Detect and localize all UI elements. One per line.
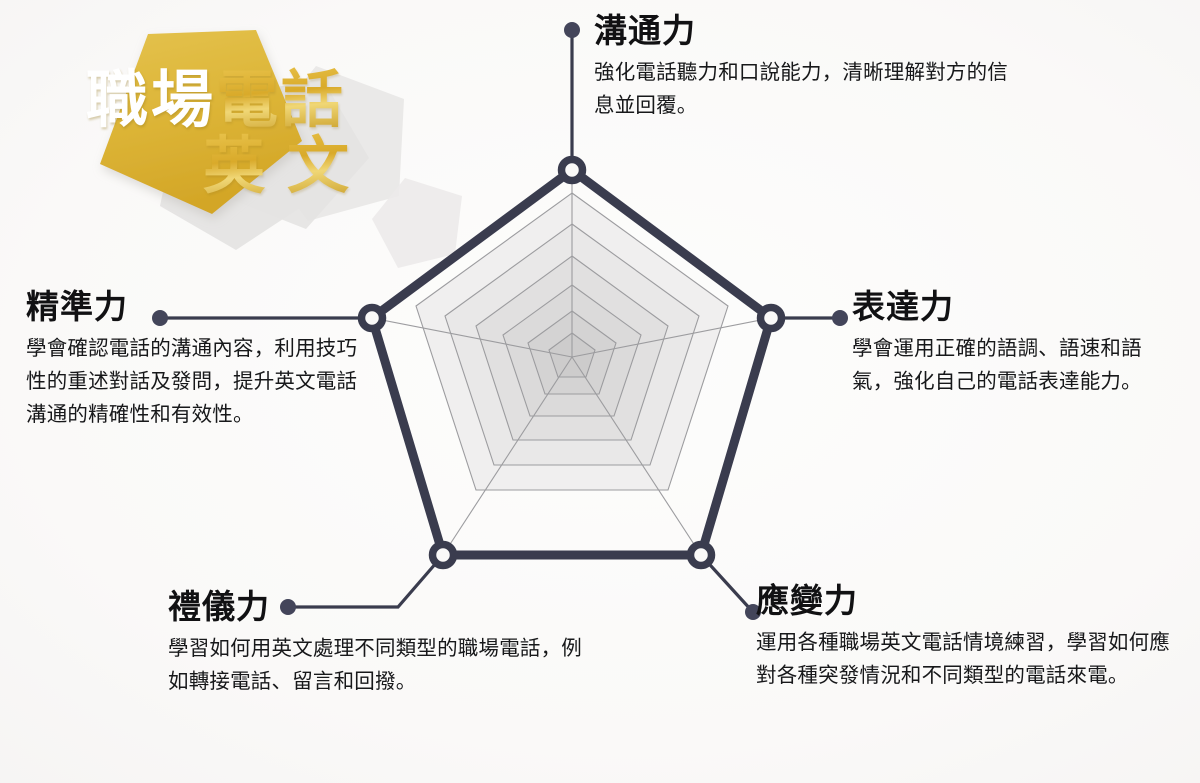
item-adaptability: 應變力 運用各種職場英文電話情境練習，學習如何應對各種突發情況和不同類型的電話來… [756,584,1176,692]
radar-node-expression[interactable] [761,308,782,329]
item-communication-body: 強化電話聽力和口說能力，清晰理解對方的信息並回覆。 [594,56,1014,122]
item-etiquette-title: 禮儀力 [168,590,588,627]
item-expression-title: 表達力 [852,290,1182,327]
item-precision-body: 學會確認電話的溝通內容，利用技巧性的重述對話及發問，提升英文電話溝通的精確性和有… [26,332,366,432]
item-etiquette: 禮儀力 學習如何用英文處理不同類型的職場電話，例如轉接電話、留言和回撥。 [168,590,588,698]
item-adaptability-title: 應變力 [756,584,1176,621]
logo-text-telephone: 電話 [216,67,346,135]
leader-dot-top [564,22,580,38]
item-communication: 溝通力 強化電話聽力和口說能力，清晰理解對方的信息並回覆。 [594,14,1014,122]
leader-dot-right [832,310,848,326]
item-precision-title: 精準力 [26,290,366,327]
infographic-canvas: 職場電話 英文 溝通力 強化電話聽力和口說能力，清晰理解對方的信息並回覆。 表達… [0,0,1200,783]
logo-text-english: 英文 [203,133,371,201]
brand-logo: 職場電話 英文 [58,18,478,233]
logo-line-2: 英文 [203,136,371,198]
item-precision: 精準力 學會確認電話的溝通內容，利用技巧性的重述對話及發問，提升英文電話溝通的精… [26,290,366,432]
item-etiquette-body: 學習如何用英文處理不同類型的職場電話，例如轉接電話、留言和回撥。 [168,632,588,698]
logo-text-workplace: 職場 [86,67,216,135]
radar-node-etiquette[interactable] [433,545,454,566]
logo-line-1: 職場電話 [86,70,346,132]
item-expression-body: 學會運用正確的語調、語速和語氣，強化自己的電話表達能力。 [852,332,1182,398]
item-adaptability-body: 運用各種職場英文電話情境練習，學習如何應對各種突發情況和不同類型的電話來電。 [756,626,1176,692]
item-expression: 表達力 學會運用正確的語調、語速和語氣，強化自己的電話表達能力。 [852,290,1182,398]
radar-node-adaptability[interactable] [691,545,712,566]
radar-node-communication[interactable] [562,160,583,181]
item-communication-title: 溝通力 [594,14,1014,51]
